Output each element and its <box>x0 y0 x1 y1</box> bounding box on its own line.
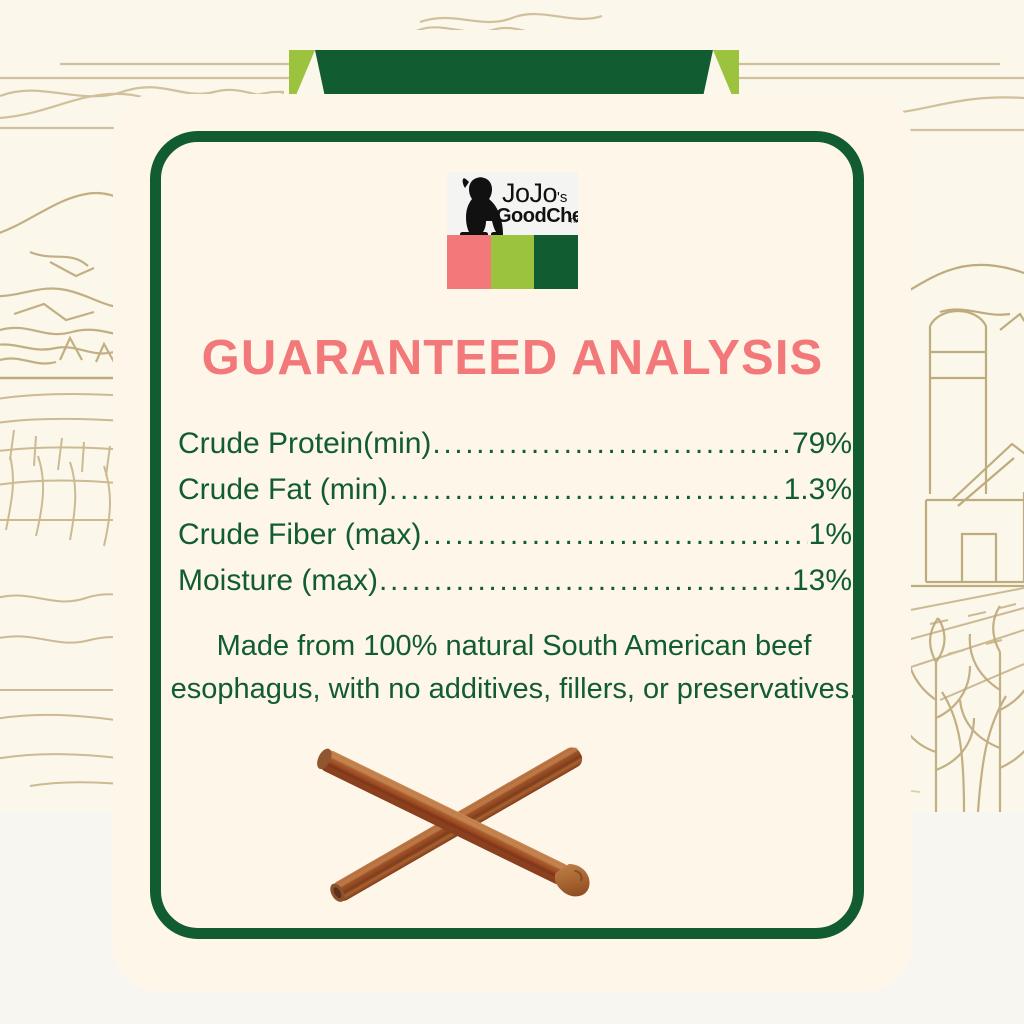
leader-dots: ........................................… <box>432 421 791 467</box>
brand-logo: JoJo 's GoodChews TM <box>447 172 578 289</box>
analysis-row-value: 13% <box>792 558 852 604</box>
analysis-row-label: Moisture (max) <box>178 558 378 604</box>
swatch-lime <box>491 235 535 289</box>
analysis-row: Crude Protein(min) .....................… <box>178 421 852 467</box>
logo-color-swatches <box>447 235 578 289</box>
svg-text:TM: TM <box>569 218 578 225</box>
analysis-row-value: 1% <box>809 512 852 558</box>
analysis-row-label: Crude Fat (min) <box>178 467 388 513</box>
svg-text:GoodChews: GoodChews <box>496 205 578 227</box>
guaranteed-analysis-list: Crude Protein(min) .....................… <box>178 421 852 603</box>
analysis-row: Moisture (max) .........................… <box>178 558 852 604</box>
analysis-row: Crude Fat (min) ........................… <box>178 467 852 513</box>
analysis-row-label: Crude Fiber (max) <box>178 512 421 558</box>
swatch-coral <box>447 235 491 289</box>
product-photo-chew-sticks <box>296 722 616 922</box>
product-description: Made from 100% natural South American be… <box>158 625 870 711</box>
analysis-row: Crude Fiber (max) ......................… <box>178 512 852 558</box>
leader-dots: ........................................… <box>422 512 807 558</box>
description-line-1: Made from 100% natural South American be… <box>158 625 870 668</box>
leader-dots: ........................................… <box>379 558 791 604</box>
analysis-row-value: 1.3% <box>784 467 852 513</box>
svg-text:JoJo: JoJo <box>502 178 557 208</box>
svg-text:'s: 's <box>557 189 567 206</box>
logo-wordmark: JoJo 's GoodChews TM <box>447 172 578 235</box>
description-line-2: esophagus, with no additives, fillers, o… <box>158 668 870 711</box>
analysis-row-value: 79% <box>792 421 852 467</box>
poster-canvas: JoJo 's GoodChews TM GUARANTEED ANALYSIS… <box>0 0 1024 1024</box>
leader-dots: ........................................… <box>389 467 783 513</box>
swatch-forest-green <box>534 235 578 289</box>
page-title: GUARANTEED ANALYSIS <box>150 332 875 386</box>
analysis-row-label: Crude Protein(min) <box>178 421 431 467</box>
